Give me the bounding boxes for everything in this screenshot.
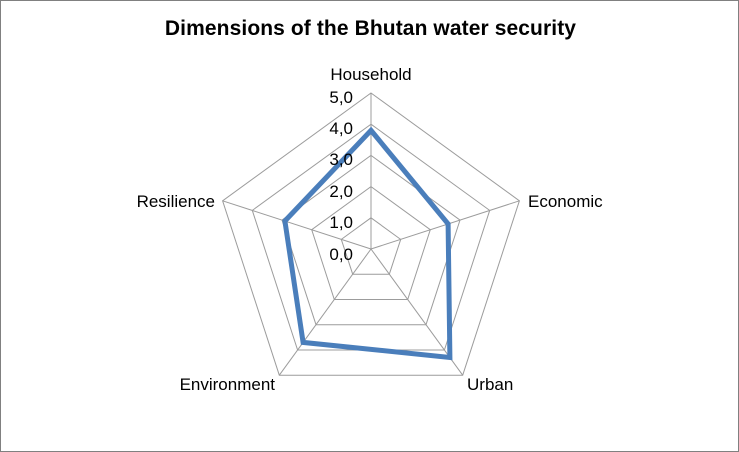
tick-label-5: 5,0 bbox=[329, 88, 353, 107]
radar-spokes bbox=[223, 93, 520, 375]
category-label-environment: Environment bbox=[180, 375, 276, 394]
tick-label-1: 1,0 bbox=[329, 213, 353, 232]
tick-label-4: 4,0 bbox=[329, 119, 353, 138]
tick-label-3: 3,0 bbox=[329, 150, 353, 169]
spoke-economic bbox=[371, 201, 519, 249]
category-label-economic: Economic bbox=[528, 192, 603, 211]
tick-label-0: 0,0 bbox=[329, 245, 353, 264]
chart-frame: Dimensions of the Bhutan water security … bbox=[0, 0, 739, 452]
category-label-urban: Urban bbox=[467, 375, 513, 394]
radar-chart: 5,0 4,0 3,0 2,0 1,0 0,0 Household Econom… bbox=[1, 1, 739, 452]
tick-label-2: 2,0 bbox=[329, 182, 353, 201]
category-label-household: Household bbox=[330, 65, 411, 84]
category-labels: Household Economic Urban Environment Res… bbox=[137, 65, 604, 394]
category-label-resilience: Resilience bbox=[137, 192, 215, 211]
